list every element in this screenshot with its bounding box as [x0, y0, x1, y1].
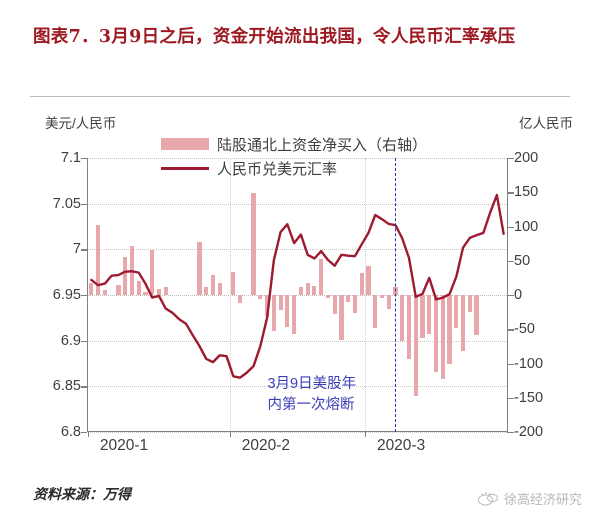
left-tick — [81, 158, 87, 159]
left-tick — [81, 295, 87, 296]
event-annotation-line2: 内第一次熔断 — [267, 395, 356, 416]
legend-bar-swatch — [161, 138, 209, 150]
left-axis-tick-label: 7 — [73, 241, 81, 257]
right-tick — [507, 295, 514, 296]
event-annotation: 3月9日美股年 内第一次熔断 — [267, 374, 356, 416]
gridline — [88, 432, 507, 433]
right-tick — [507, 432, 514, 433]
right-axis-tick-label: -50 — [514, 321, 535, 337]
left-axis-tick-label: 7.1 — [61, 150, 81, 166]
legend-bar-label: 陆股通北上资金净买入（右轴） — [217, 134, 427, 155]
left-axis-tick-label: 7.05 — [53, 196, 81, 212]
left-axis-tick-label: 6.95 — [53, 287, 81, 303]
left-tick — [81, 386, 87, 387]
right-axis-tick-label: -100 — [514, 356, 543, 372]
x-axis-tick-label: 2020-3 — [377, 437, 425, 455]
right-axis-tick-label: 100 — [514, 219, 538, 235]
right-axis-tick-labels: 200150100500-50-100-150-200 — [514, 158, 574, 432]
left-axis-unit-label: 美元/人民币 — [45, 112, 116, 132]
left-tick — [81, 249, 87, 250]
cloud-icon — [477, 491, 499, 506]
x-axis-tick-label: 2020-2 — [242, 437, 290, 455]
left-axis-tick-labels: 7.17.0576.956.96.856.8 — [33, 158, 81, 432]
right-tick — [507, 158, 514, 159]
event-marker-line — [395, 158, 396, 432]
right-tick — [507, 261, 514, 262]
x-axis-tick-label: 2020-1 — [100, 437, 148, 455]
left-tick — [81, 341, 87, 342]
page-title: 图表7．3月9日之后，资金开始流出我国，令人民币汇率承压 — [33, 22, 573, 52]
right-axis-unit-label: 亿人民币 — [519, 112, 573, 132]
right-axis-tick-label: 50 — [514, 253, 530, 269]
right-tick — [507, 398, 514, 399]
watermark-text: 徐高经济研究 — [504, 489, 582, 508]
event-annotation-line1: 3月9日美股年 — [267, 374, 356, 395]
left-axis-tick-label: 6.8 — [61, 424, 81, 440]
right-axis-tick-label: 150 — [514, 184, 538, 200]
right-axis-tick-label: 200 — [514, 150, 538, 166]
right-tick — [507, 364, 514, 365]
right-tick — [507, 329, 514, 330]
source-note: 资料来源：万得 — [33, 484, 131, 504]
right-axis-tick-label: -150 — [514, 390, 543, 406]
x-axis-tick-labels: 2020-12020-22020-3 — [88, 437, 507, 461]
left-axis-tick-label: 6.9 — [61, 333, 81, 349]
title-divider — [30, 96, 570, 97]
right-axis-tick-label: -200 — [514, 424, 543, 440]
right-tick — [507, 192, 514, 193]
watermark: 徐高经济研究 — [477, 489, 582, 508]
left-tick — [81, 432, 87, 433]
chart-page: 图表7．3月9日之后，资金开始流出我国，令人民币汇率承压 美元/人民币 亿人民币… — [0, 0, 600, 528]
right-tick — [507, 227, 514, 228]
left-tick — [81, 204, 87, 205]
right-axis-tick-label: 0 — [514, 287, 522, 303]
left-axis-tick-label: 6.85 — [53, 378, 81, 394]
